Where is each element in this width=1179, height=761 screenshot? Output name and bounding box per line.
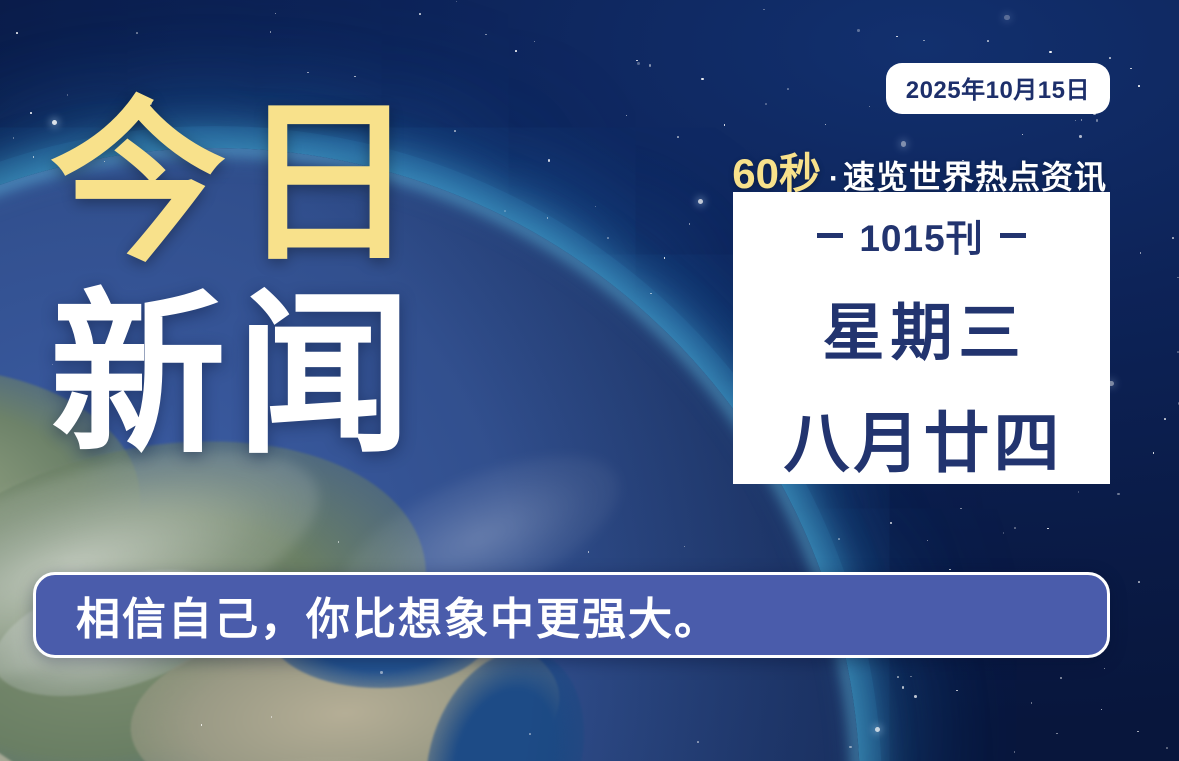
issue-info-card: 1015刊 星期三 八月廿四 <box>733 192 1110 484</box>
star-dot <box>1096 119 1099 122</box>
star-dot <box>825 124 827 126</box>
star-dot <box>960 508 962 510</box>
star-dot <box>1079 135 1082 138</box>
star-dot <box>1014 751 1016 753</box>
star-dot <box>1153 452 1155 454</box>
star-dot <box>1022 134 1024 136</box>
tagline-separator: · <box>829 162 839 196</box>
star-dot <box>419 13 421 15</box>
dash-left-icon <box>817 233 843 238</box>
star-dot <box>902 686 905 689</box>
star-dot <box>1078 491 1080 493</box>
star-dot <box>650 293 652 295</box>
star-dot <box>910 676 912 678</box>
star-dot <box>897 676 899 678</box>
star-dot <box>1075 120 1077 122</box>
star-dot <box>1104 668 1106 670</box>
poster-title: 今日 新闻 <box>50 96 430 464</box>
star-dot <box>927 540 929 542</box>
star-dot <box>1117 493 1120 496</box>
star-dot <box>724 124 726 126</box>
lunar-date-label: 八月廿四 <box>780 390 1064 486</box>
star-dot <box>1138 85 1140 87</box>
star-dot <box>548 159 551 162</box>
page-title-line1: 今日 <box>50 96 430 272</box>
star-dot <box>896 36 898 38</box>
issue-number: 1015刊 <box>859 208 983 262</box>
star-dot <box>649 64 652 67</box>
star-dot <box>923 40 925 42</box>
star-dot <box>1014 527 1016 529</box>
star-dot <box>1138 581 1140 583</box>
star-dot <box>307 72 309 74</box>
star-dot <box>765 103 767 105</box>
star-dot <box>914 695 917 698</box>
star-dot <box>354 76 356 78</box>
star-dot <box>875 727 880 732</box>
star-dot <box>1031 702 1033 704</box>
star-dot <box>838 538 840 540</box>
star-dot <box>13 137 15 139</box>
quote-text: 相信自己，你比想象中更强大。 <box>36 583 720 647</box>
news-poster: 今日 新闻 2025年10月15日 60秒 · 速览世界热点资讯 1015刊 星… <box>0 0 1179 761</box>
star-dot <box>454 130 456 132</box>
page-title-line2: 新闻 <box>50 288 430 464</box>
star-dot <box>136 32 138 34</box>
star-dot <box>1060 677 1063 680</box>
star-dot <box>987 40 989 42</box>
star-dot <box>270 31 272 33</box>
star-dot <box>1109 57 1111 59</box>
star-dot <box>485 34 487 36</box>
star-dot <box>1164 418 1166 420</box>
star-dot <box>1101 709 1103 711</box>
star-dot <box>698 199 703 204</box>
star-dot <box>1137 731 1139 733</box>
star-dot <box>637 62 640 65</box>
date-badge: 2025年10月15日 <box>886 63 1110 114</box>
star-dot <box>1177 277 1179 279</box>
star-dot <box>1140 252 1142 254</box>
star-dot <box>1047 528 1049 530</box>
star-dot <box>636 60 638 62</box>
star-dot <box>677 136 679 138</box>
dash-right-icon <box>1000 233 1026 238</box>
star-dot <box>956 690 958 692</box>
star-dot <box>1172 237 1174 239</box>
star-dot <box>857 29 860 32</box>
star-dot <box>1003 532 1005 534</box>
star-dot <box>30 112 32 114</box>
star-dot <box>275 13 277 15</box>
star-dot <box>547 217 549 219</box>
star-dot <box>949 569 951 571</box>
star-dot <box>890 522 893 525</box>
star-dot <box>456 1 458 3</box>
star-dot <box>664 257 666 259</box>
star-dot <box>1056 733 1058 735</box>
star-dot <box>595 206 597 208</box>
star-dot <box>534 41 536 43</box>
star-dot <box>16 32 18 34</box>
star-dot <box>1004 15 1009 20</box>
star-dot <box>763 9 765 11</box>
star-dot <box>1130 68 1132 70</box>
star-dot <box>869 106 871 108</box>
star-dot <box>626 115 628 117</box>
quote-banner: 相信自己，你比想象中更强大。 <box>33 572 1110 658</box>
star-dot <box>1166 747 1168 749</box>
weekday-label: 星期三 <box>816 282 1026 372</box>
star-dot <box>689 223 691 225</box>
issue-row: 1015刊 <box>817 208 1025 262</box>
star-dot <box>1081 119 1083 121</box>
star-dot <box>1049 51 1052 54</box>
star-dot <box>787 88 789 90</box>
star-dot <box>607 237 609 239</box>
star-dot <box>701 78 704 81</box>
star-dot <box>515 50 517 52</box>
